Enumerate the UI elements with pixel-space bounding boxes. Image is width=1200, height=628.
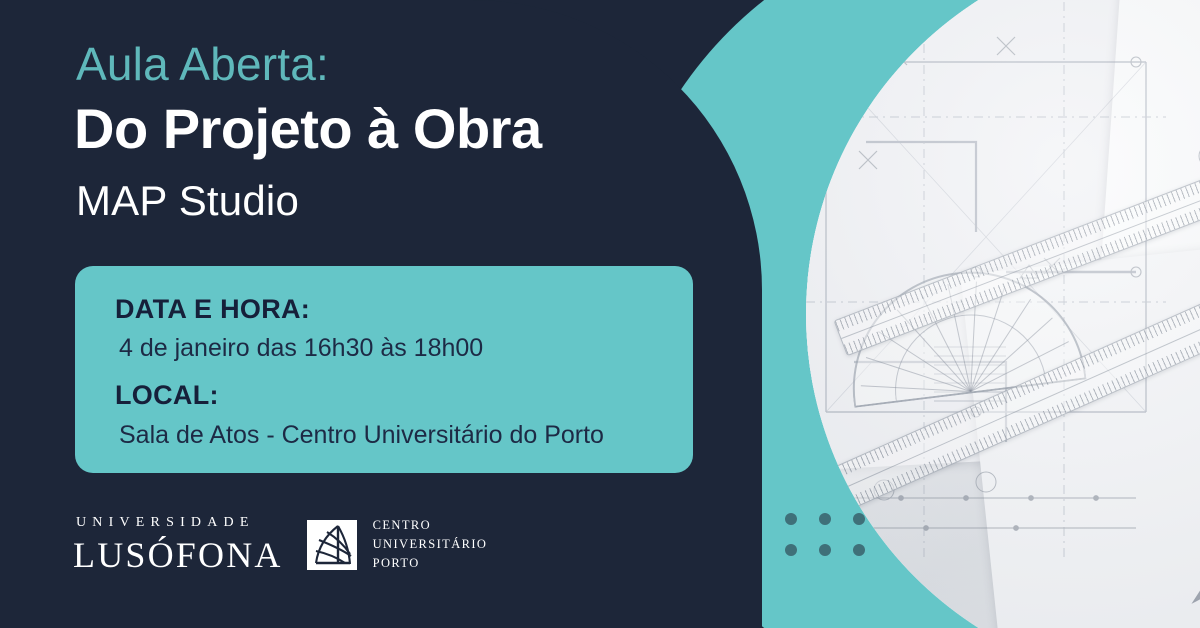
location-label: LOCAL: [115,380,219,411]
lusofona-globe-icon [307,520,357,570]
blueprint-photo [806,0,1200,628]
event-details-card: DATA E HORA: 4 de janeiro das 16h30 às 1… [75,266,693,473]
poster-content: Aula Aberta: Do Projeto à Obra MAP Studi… [0,0,762,628]
dot-grid-decoration [785,513,865,556]
subtitle: MAP Studio [76,178,299,224]
page-title: Do Projeto à Obra [74,100,542,159]
event-poster: Aula Aberta: Do Projeto à Obra MAP Studi… [0,0,1200,628]
logo-porto-line: PORTO [373,554,488,573]
photo-paper-base [806,0,1200,628]
decorative-dot [785,544,797,556]
location-value: Sala de Atos - Centro Universitário do P… [119,421,604,450]
photo-shading-overlay [806,0,1200,628]
decorative-dot [853,544,865,556]
eyebrow-title: Aula Aberta: [76,40,329,88]
decorative-dot [853,513,865,525]
lusofona-wordmark: UNIVERSIDADE LUSÓFONA [73,516,283,573]
datetime-label: DATA E HORA: [115,294,310,325]
logo-lusofona-word: LUSÓFONA [73,537,283,573]
decorative-dot [819,544,831,556]
decorative-dot [819,513,831,525]
logo-centro-line: CENTRO [373,516,488,535]
logo-universidade-word: UNIVERSIDADE [73,516,255,530]
centro-universitario-porto-label: CENTRO UNIVERSITÁRIO PORTO [373,516,488,572]
decorative-dot [785,513,797,525]
logo-universitario-line: UNIVERSITÁRIO [373,535,488,554]
datetime-value: 4 de janeiro das 16h30 às 18h00 [119,334,483,363]
logo-lockup: UNIVERSIDADE LUSÓFONA CENTRO [73,516,487,573]
